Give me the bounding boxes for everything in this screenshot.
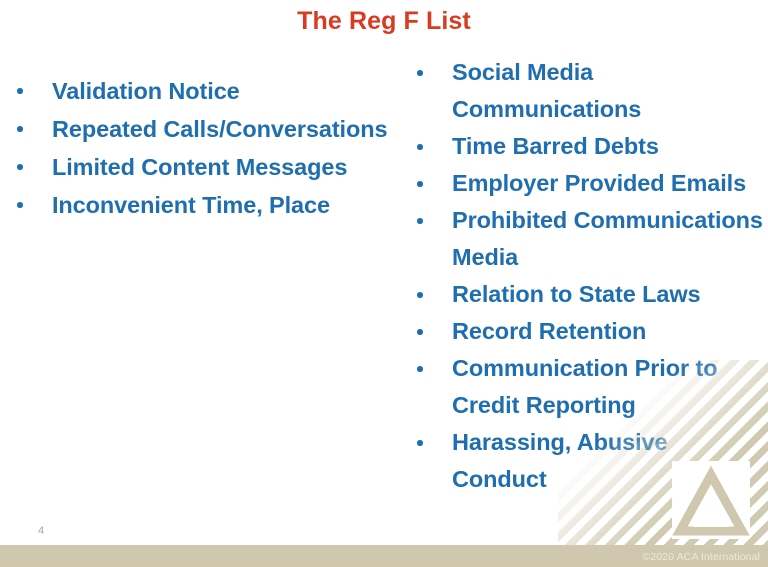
- list-item-label: Inconvenient Time, Place: [52, 186, 400, 224]
- bullet-dot-icon: [417, 440, 423, 446]
- list-item-label: Repeated Calls/Conversations: [52, 110, 400, 148]
- list-item: Social Media Communications: [408, 54, 768, 128]
- list-item-label: Employer Provided Emails: [452, 165, 768, 202]
- bullet-dot-icon: [417, 144, 423, 150]
- bullet-dot-icon: [417, 292, 423, 298]
- list-item-label: Limited Content Messages: [52, 148, 400, 186]
- copyright-notice: ©2020 ACA International: [643, 551, 760, 563]
- list-item: Validation Notice: [8, 72, 400, 110]
- page-number: 4: [38, 525, 44, 537]
- list-item: Communication Prior to Credit Reporting: [408, 350, 768, 424]
- bullet-dot-icon: [17, 88, 23, 94]
- list-item-label: Record Retention: [452, 313, 768, 350]
- list-item: Record Retention: [408, 313, 768, 350]
- list-item-label: Time Barred Debts: [452, 128, 768, 165]
- bullet-dot-icon: [17, 126, 23, 132]
- list-item: Inconvenient Time, Place: [8, 186, 400, 224]
- list-item-label: Relation to State Laws: [452, 276, 768, 313]
- list-item: Time Barred Debts: [408, 128, 768, 165]
- list-item: Harassing, Abusive Conduct: [408, 424, 768, 498]
- list-item-label: Harassing, Abusive Conduct: [452, 424, 768, 498]
- left-bullet-column: Validation Notice Repeated Calls/Convers…: [8, 72, 400, 224]
- list-item-label: Communication Prior to Credit Reporting: [452, 350, 768, 424]
- list-item: Prohibited Communications Media: [408, 202, 768, 276]
- list-item: Relation to State Laws: [408, 276, 768, 313]
- bullet-dot-icon: [417, 218, 423, 224]
- list-item: Repeated Calls/Conversations: [8, 110, 400, 148]
- bullet-dot-icon: [417, 70, 423, 76]
- bullet-dot-icon: [417, 366, 423, 372]
- list-item-label: Social Media Communications: [452, 54, 768, 128]
- bullet-dot-icon: [417, 329, 423, 335]
- list-item-label: Prohibited Communications Media: [452, 202, 768, 276]
- list-item-label: Validation Notice: [52, 72, 400, 110]
- bullet-dot-icon: [417, 181, 423, 187]
- page-title: The Reg F List: [0, 6, 768, 37]
- bullet-dot-icon: [17, 202, 23, 208]
- slide-canvas: The Reg F List Validation Notice Repeate…: [0, 0, 768, 567]
- bullet-dot-icon: [17, 164, 23, 170]
- list-item: Employer Provided Emails: [408, 165, 768, 202]
- list-item: Limited Content Messages: [8, 148, 400, 186]
- right-bullet-column: Social Media Communications Time Barred …: [408, 54, 768, 498]
